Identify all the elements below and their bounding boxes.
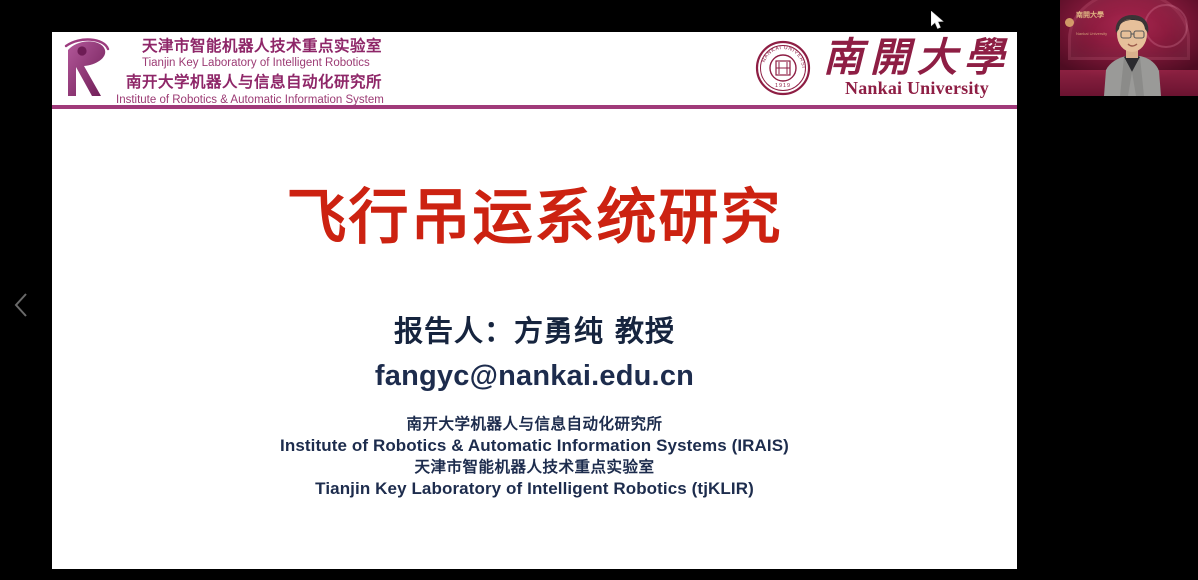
university-logo-group: NANKAI UNIVERSITY 1919 南開大學 Nankai Unive… <box>755 36 1011 99</box>
university-name-en: Nankai University <box>823 78 1011 99</box>
lab-cn-line2: 南开大学机器人与信息自动化研究所 <box>116 73 384 92</box>
svg-text:NANKAI UNIVERSITY: NANKAI UNIVERSITY <box>755 40 806 68</box>
mouse-cursor-icon <box>931 11 945 31</box>
university-name-cn: 南開大學 <box>823 36 1011 80</box>
affiliation-line-1: 南开大学机器人与信息自动化研究所 <box>52 414 1017 435</box>
presenter-name: 报告人：方勇纯 教授 <box>52 312 1017 350</box>
presentation-viewer: 天津市智能机器人技术重点实验室 Tianjin Key Laboratory o… <box>0 0 1198 580</box>
presenter-email: fangyc@nankai.edu.cn <box>52 357 1017 395</box>
slide-banner: 天津市智能机器人技术重点实验室 Tianjin Key Laboratory o… <box>52 32 1017 110</box>
r-monogram-logo-icon <box>58 34 112 106</box>
lab-logo-group: 天津市智能机器人技术重点实验室 Tianjin Key Laboratory o… <box>58 34 384 107</box>
university-wordmark: 南開大學 Nankai University <box>823 36 1011 99</box>
affiliation-line-4: Tianjin Key Laboratory of Intelligent Ro… <box>52 478 1017 500</box>
presenter-video-feed[interactable]: 南開大學 Nankai University <box>1060 0 1198 96</box>
lab-en-line1: Tianjin Key Laboratory of Intelligent Ro… <box>116 56 384 70</box>
banner-divider <box>52 105 1017 109</box>
previous-slide-button[interactable] <box>8 290 34 320</box>
lab-cn-line1: 天津市智能机器人技术重点实验室 <box>116 37 384 56</box>
chevron-left-icon <box>14 292 28 318</box>
svg-text:1919: 1919 <box>775 83 791 89</box>
lab-text-group: 天津市智能机器人技术重点实验室 Tianjin Key Laboratory o… <box>116 34 384 107</box>
affiliation-line-3: 天津市智能机器人技术重点实验室 <box>52 457 1017 478</box>
slide-title: 飞行吊运系统研究 <box>52 182 1017 254</box>
affiliation-block: 南开大学机器人与信息自动化研究所 Institute of Robotics &… <box>52 414 1017 500</box>
affiliation-line-2: Institute of Robotics & Automatic Inform… <box>52 435 1017 457</box>
presenter-figure <box>1060 0 1198 96</box>
slide-canvas[interactable]: 天津市智能机器人技术重点实验室 Tianjin Key Laboratory o… <box>52 32 1017 569</box>
nankai-university-seal-icon: NANKAI UNIVERSITY 1919 <box>755 40 811 96</box>
